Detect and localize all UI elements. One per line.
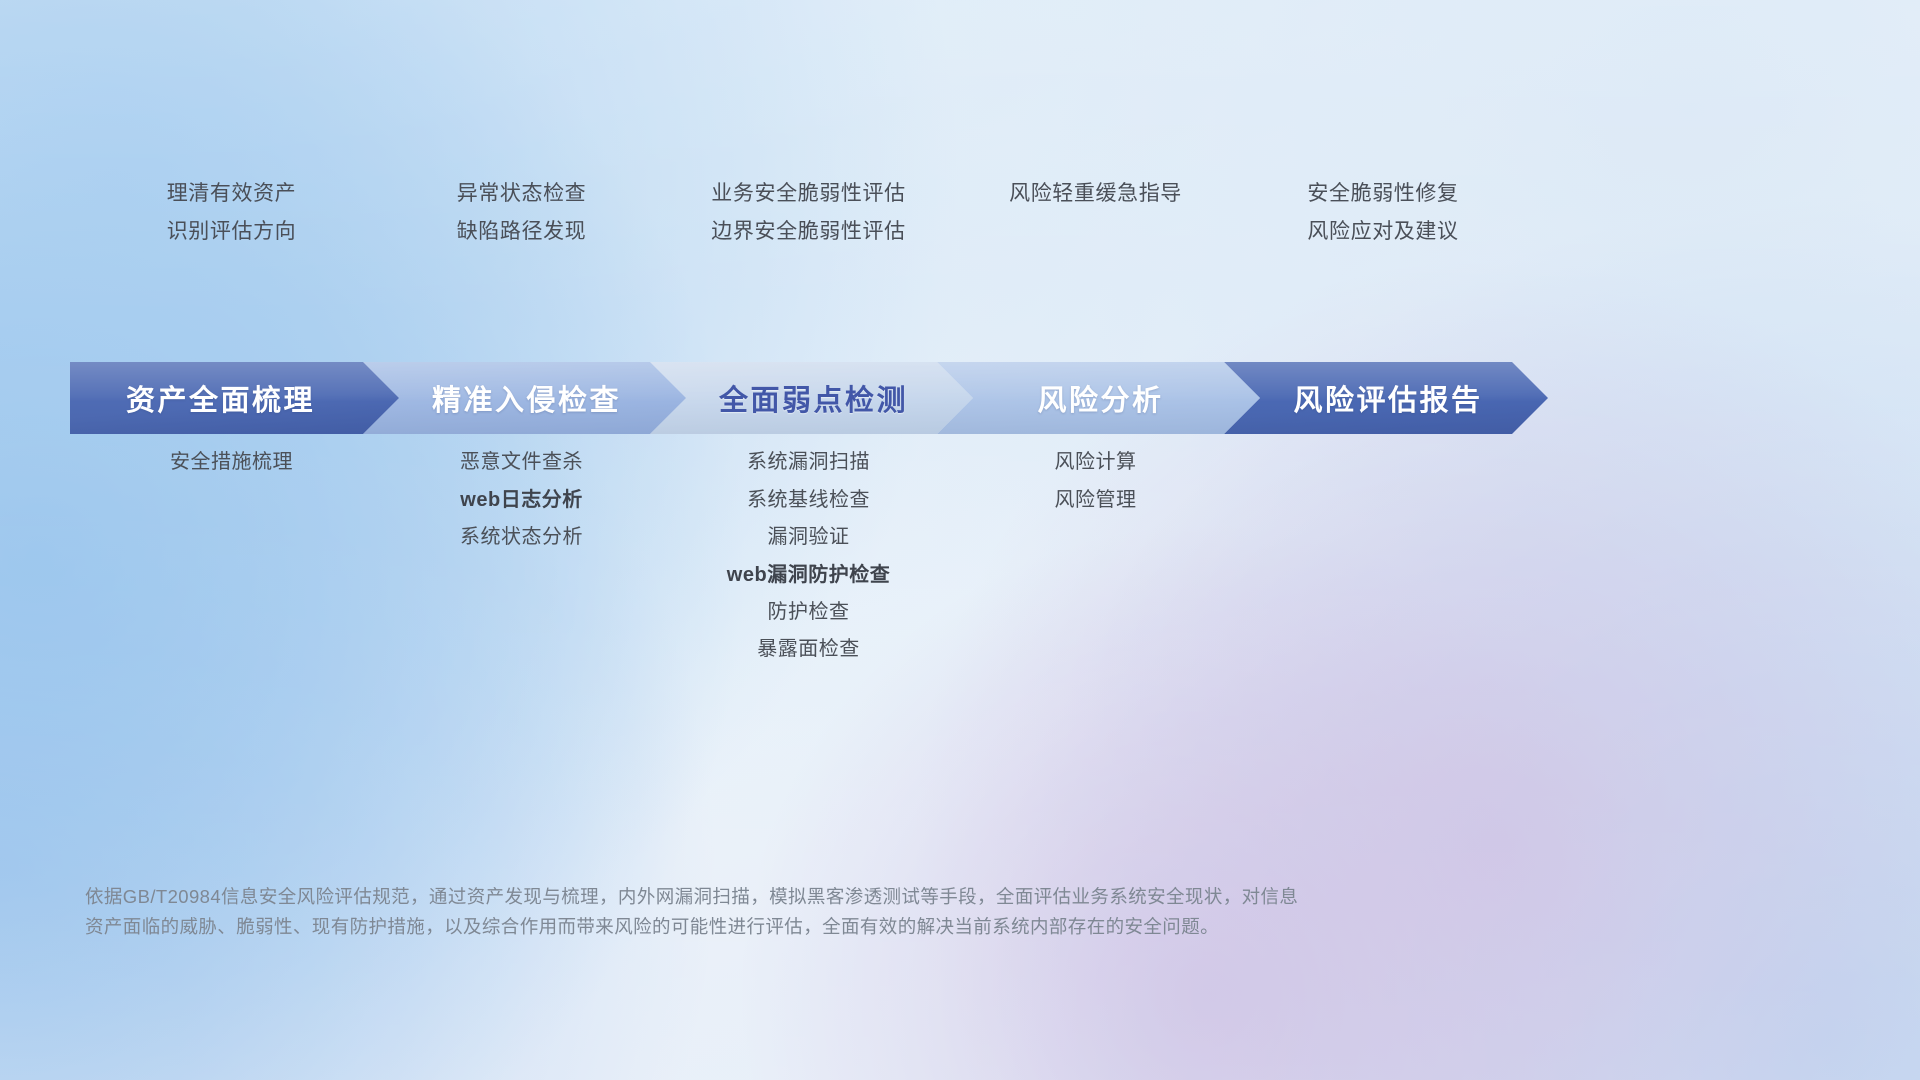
- top-caption-item: 理清有效资产: [167, 182, 297, 206]
- chevron-label: 精准入侵检查: [432, 377, 621, 419]
- bottom-caption-item: web日志分析: [460, 489, 582, 511]
- bottom-caption-item: web漏洞防护检查: [727, 564, 890, 586]
- top-caption-group-4: 风险轻重缓急指导: [952, 182, 1239, 243]
- chevron-label: 资产全面梳理: [126, 377, 315, 419]
- bottom-caption-item: 防护检查: [768, 601, 850, 623]
- top-caption-item: 安全脆弱性修复: [1307, 182, 1458, 206]
- top-caption-group-5: 安全脆弱性修复风险应对及建议: [1239, 182, 1527, 243]
- bottom-caption-item: 系统状态分析: [460, 526, 583, 548]
- process-flow-diagram: 理清有效资产识别评估方向异常状态检查缺陷路径发现业务安全脆弱性评估边界安全脆弱性…: [0, 0, 1920, 1080]
- bottom-caption-group-3: web安全扫描系统漏洞扫描系统基线检查漏洞验证web漏洞防护检查防护检查暴露面检…: [665, 414, 952, 661]
- chevron-stage-4[interactable]: 风险分析: [937, 362, 1260, 434]
- bottom-caption-item: 漏洞验证: [768, 526, 850, 548]
- bottom-caption-group-5: 安全风险加固及建议: [1239, 414, 1527, 661]
- bottom-caption-item: 风险计算: [1055, 451, 1137, 473]
- chevron-label: 风险分析: [1037, 377, 1163, 419]
- bottom-caption-item: 暴露面检查: [757, 638, 860, 660]
- chevron-stage-5[interactable]: 风险评估报告: [1224, 362, 1548, 434]
- top-caption-item: 风险应对及建议: [1307, 220, 1458, 244]
- top-caption-group-1: 理清有效资产识别评估方向: [85, 182, 378, 243]
- chevron-stage-2[interactable]: 精准入侵检查: [363, 362, 686, 434]
- top-caption-group-2: 异常状态检查缺陷路径发现: [378, 182, 665, 243]
- top-caption-group-3: 业务安全脆弱性评估边界安全脆弱性评估: [665, 182, 952, 243]
- chevron-label: 风险评估报告: [1293, 377, 1482, 419]
- top-caption-item: 缺陷路径发现: [457, 220, 587, 244]
- bottom-caption-group-1: 业务系统梳理安全措施梳理: [85, 414, 378, 661]
- footer-line-1: 依据GB/T20984信息安全风险评估规范，通过资产发现与梳理，内外网漏洞扫描，…: [85, 882, 1455, 912]
- footer-description: 依据GB/T20984信息安全风险评估规范，通过资产发现与梳理，内外网漏洞扫描，…: [85, 882, 1455, 942]
- footer-line-2: 资产面临的威胁、脆弱性、现有防护措施，以及综合作用而带来风险的可能性进行评估，全…: [85, 912, 1455, 942]
- chevron-stage-1[interactable]: 资产全面梳理: [70, 362, 399, 434]
- top-caption-item: 异常状态检查: [457, 182, 587, 206]
- top-caption-item: 识别评估方向: [167, 220, 297, 244]
- bottom-caption-item: 系统漏洞扫描: [747, 451, 870, 473]
- bottom-captions-row: 业务系统梳理安全措施梳理webshell检查恶意文件查杀web日志分析系统状态分…: [85, 414, 1527, 661]
- bottom-caption-group-4: 已有安全控制措施风险计算风险管理: [952, 414, 1239, 661]
- bottom-caption-item: 系统基线检查: [747, 489, 870, 511]
- bottom-caption-item: 恶意文件查杀: [460, 451, 583, 473]
- bottom-caption-group-2: webshell检查恶意文件查杀web日志分析系统状态分析: [378, 414, 665, 661]
- chevron-band: 资产全面梳理精准入侵检查全面弱点检测风险分析风险评估报告: [70, 362, 1522, 434]
- bottom-caption-item: 安全措施梳理: [170, 451, 293, 473]
- top-caption-item: 业务安全脆弱性评估: [711, 182, 905, 206]
- top-captions-row: 理清有效资产识别评估方向异常状态检查缺陷路径发现业务安全脆弱性评估边界安全脆弱性…: [85, 182, 1527, 243]
- bottom-caption-item: 风险管理: [1055, 489, 1137, 511]
- chevron-label: 全面弱点检测: [719, 377, 908, 419]
- top-caption-item: 风险轻重缓急指导: [1009, 182, 1182, 206]
- top-caption-item: 边界安全脆弱性评估: [711, 220, 905, 244]
- chevron-stage-3[interactable]: 全面弱点检测: [650, 362, 973, 434]
